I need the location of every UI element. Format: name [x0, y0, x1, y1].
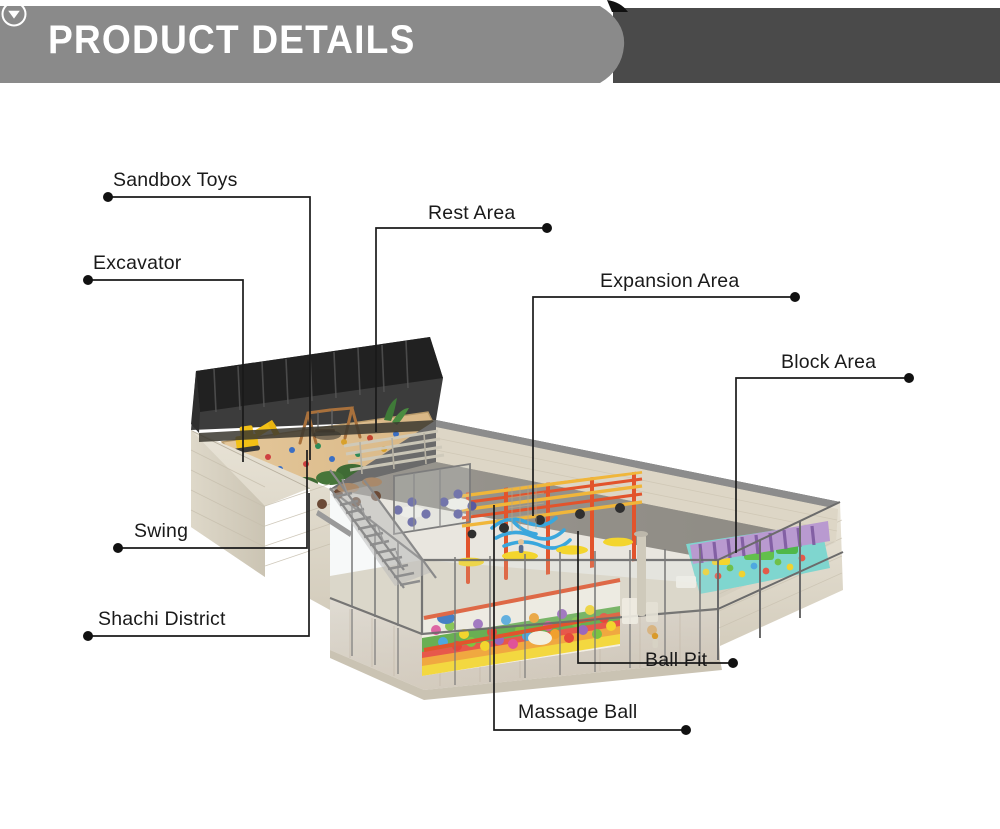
callout-label-shachi-district: Shachi District — [98, 608, 226, 631]
callout-label-swing: Swing — [134, 520, 188, 543]
product-diagram: Sandbox Toys Excavator Rest Area Expansi… — [0, 90, 1000, 829]
callout-label-block-area: Block Area — [781, 351, 876, 374]
callout-label-ball-pit: Ball Pit — [645, 649, 707, 672]
page-header: PRODUCT DETAILS — [0, 0, 1000, 90]
callout-label-excavator: Excavator — [93, 252, 182, 275]
circle-down-arrow-icon[interactable] — [0, 0, 28, 28]
page-title: PRODUCT DETAILS — [48, 18, 415, 63]
callout-label-massage-ball: Massage Ball — [518, 701, 637, 724]
callout-label-rest-area: Rest Area — [428, 202, 515, 225]
callout-label-expansion-area: Expansion Area — [600, 270, 739, 293]
main-building — [316, 416, 843, 700]
product-details-page: PRODUCT DETAILS — [0, 0, 1000, 829]
callout-label-sandbox-toys: Sandbox Toys — [113, 169, 238, 192]
diagram-illustration — [0, 90, 1000, 829]
